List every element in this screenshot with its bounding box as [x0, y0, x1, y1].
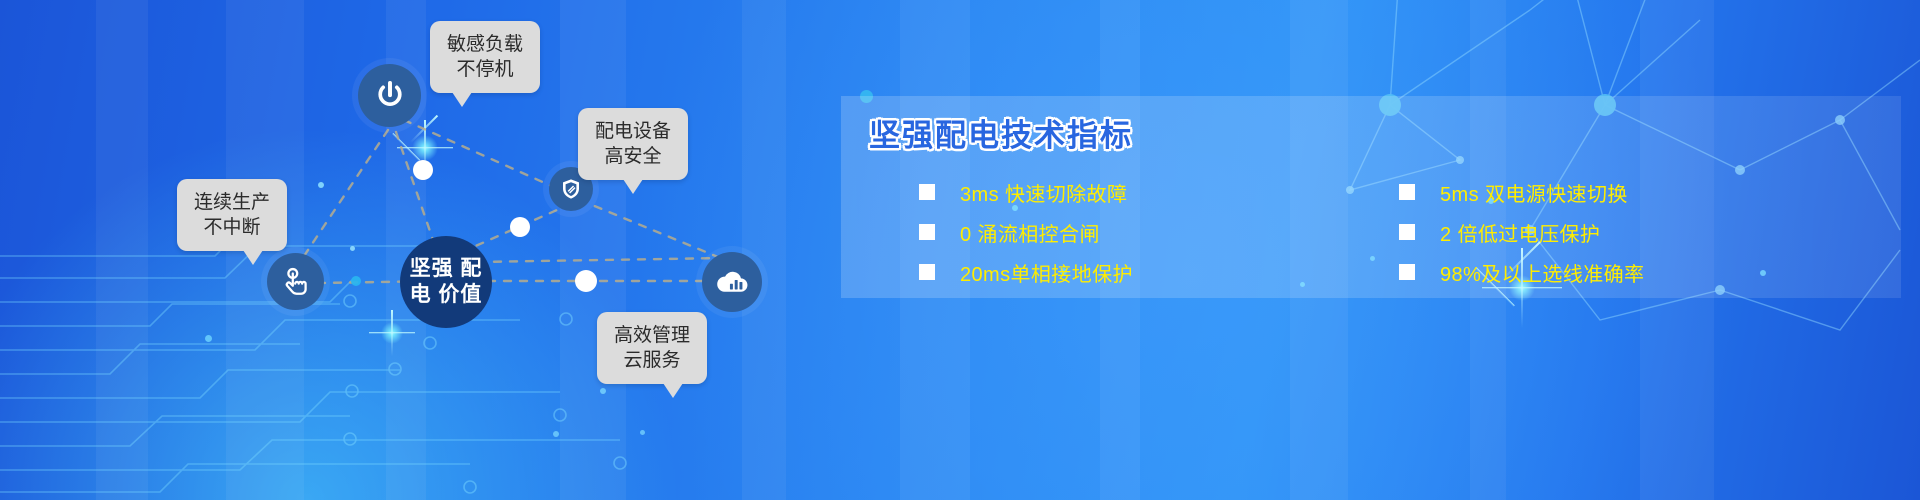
list-item-label: 5ms 双电源快速切换	[1440, 178, 1628, 207]
center-label: 坚强 配电 价值	[400, 256, 492, 308]
bubble-cloud: 高效管理 云服务	[597, 312, 707, 384]
list-item-label: 98%及以上选线准确率	[1440, 258, 1644, 287]
node-touch[interactable]	[267, 253, 324, 310]
bubble-touch: 连续生产 不中断	[177, 179, 287, 251]
list-item: 20ms单相接地保护	[919, 252, 1209, 292]
power-icon	[373, 79, 407, 113]
list-item-label: 0 涌流相控合闸	[960, 218, 1100, 247]
list-item: 2 倍低过电压保护	[1399, 212, 1879, 252]
tech-spec-panel: 坚强配电技术指标 3ms 快速切除故障 5ms 双电源快速切换 0 涌流相控合闸…	[841, 96, 1901, 298]
node-cloud[interactable]	[702, 252, 762, 312]
list-item-label: 2 倍低过电压保护	[1440, 218, 1600, 247]
bullet-square-icon	[919, 184, 935, 200]
list-item: 3ms 快速切除故障	[919, 172, 1209, 212]
cloud-chart-icon	[714, 266, 750, 298]
shield-icon	[559, 177, 583, 201]
node-center-value[interactable]: 坚强 配电 价值	[400, 236, 492, 328]
node-power[interactable]	[358, 64, 421, 127]
panel-title: 坚强配电技术指标	[869, 110, 1133, 155]
list-item: 98%及以上选线准确率	[1399, 252, 1879, 292]
promo-banner: 坚强 配电 价值 敏感负载 不停机 配电设备 高安全 连续生产 不中断 高效管理…	[0, 0, 1920, 500]
bullet-square-icon	[1399, 184, 1415, 200]
touch-hand-icon	[280, 266, 312, 298]
bullet-square-icon	[919, 264, 935, 280]
bullet-square-icon	[1399, 264, 1415, 280]
spec-bullet-list: 3ms 快速切除故障 5ms 双电源快速切换 0 涌流相控合闸 2 倍低过电压保…	[919, 172, 1879, 292]
bullet-square-icon	[1399, 224, 1415, 240]
bubble-shield: 配电设备 高安全	[578, 108, 688, 180]
list-item-label: 3ms 快速切除故障	[960, 178, 1127, 207]
list-item: 0 涌流相控合闸	[919, 212, 1209, 252]
value-diagram: 坚强 配电 价值 敏感负载 不停机 配电设备 高安全 连续生产 不中断 高效管理…	[0, 0, 860, 500]
bullet-square-icon	[919, 224, 935, 240]
list-item: 5ms 双电源快速切换	[1399, 172, 1879, 212]
list-item-label: 20ms单相接地保护	[960, 258, 1133, 287]
bubble-power: 敏感负载 不停机	[430, 21, 540, 93]
